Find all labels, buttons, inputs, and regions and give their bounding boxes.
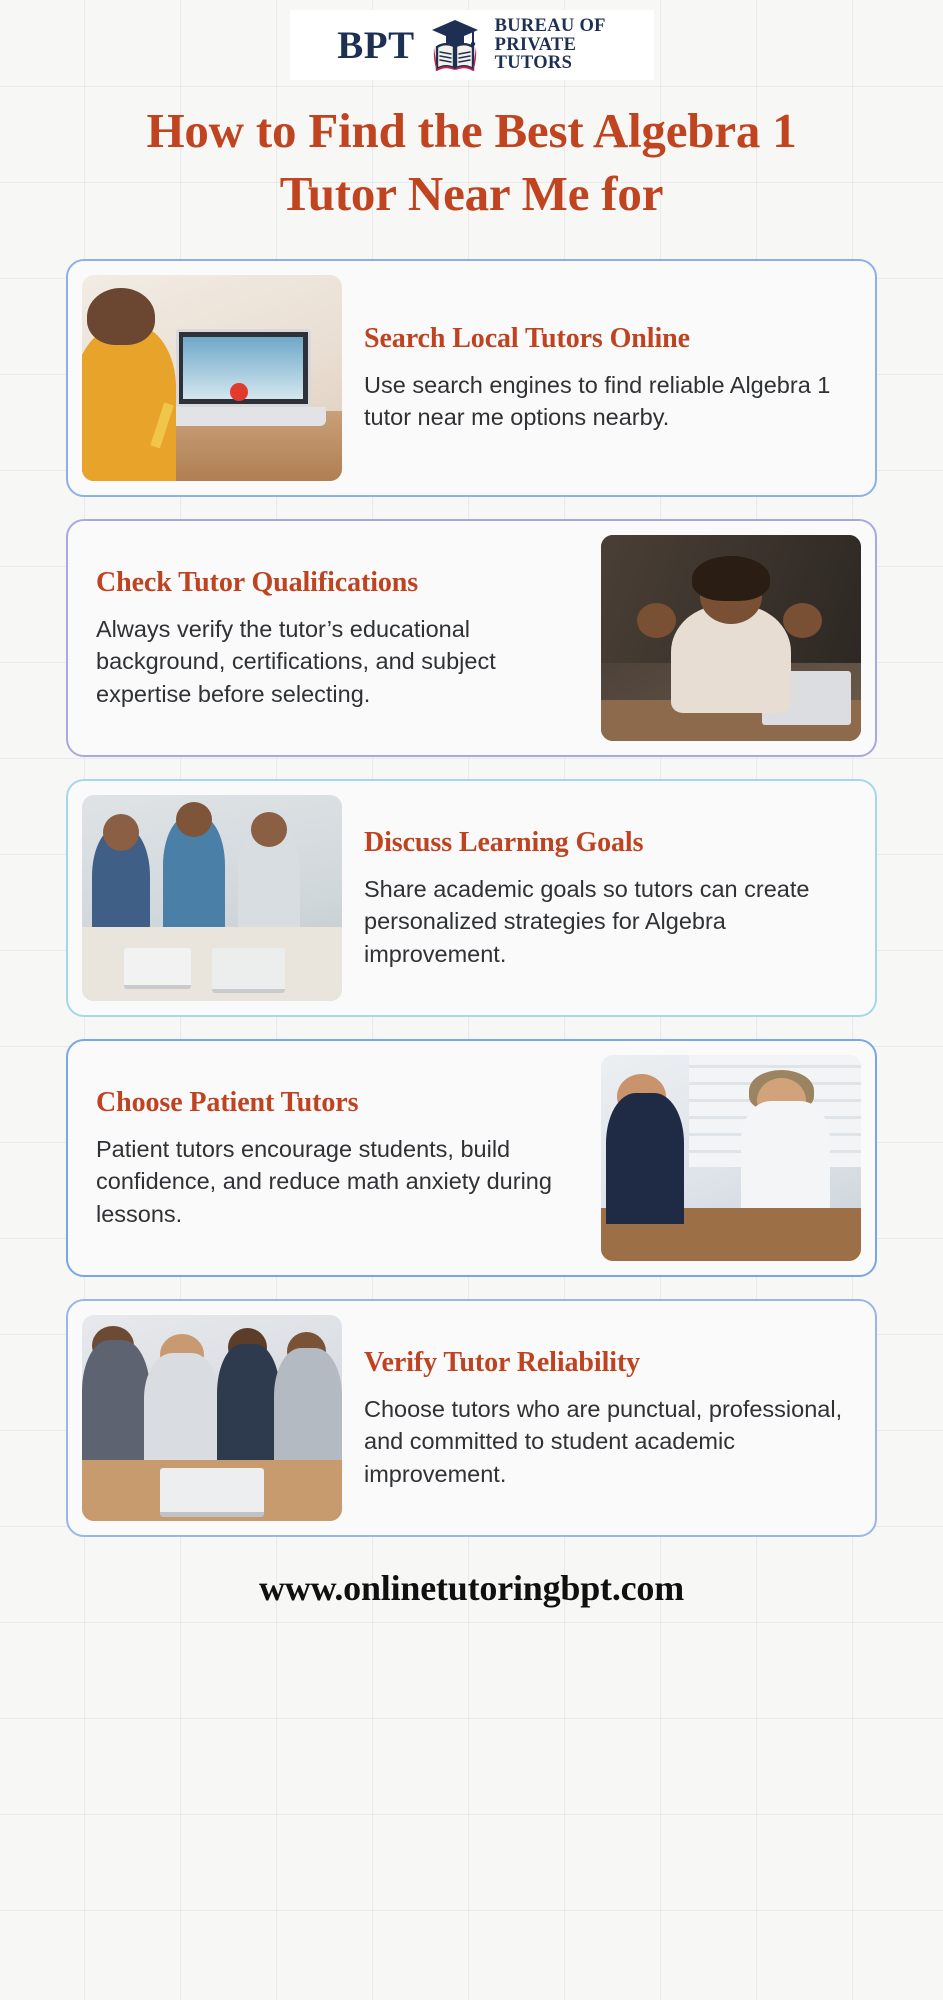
tip-card-1-heading: Search Local Tutors Online — [364, 323, 847, 355]
logo-line-1: BUREAU OF — [495, 17, 606, 36]
tip-card-1-body: Search Local Tutors Online Use search en… — [364, 323, 861, 434]
woman-meditating-at-laptop-photo — [601, 535, 861, 741]
tip-card-4-text: Patient tutors encourage students, build… — [96, 1133, 579, 1230]
tip-card-5-body: Verify Tutor Reliability Choose tutors w… — [364, 1347, 861, 1490]
tips-list: Search Local Tutors Online Use search en… — [66, 259, 877, 1537]
logo-line-2: PRIVATE — [495, 36, 606, 55]
tip-card-5-text: Choose tutors who are punctual, professi… — [364, 1393, 847, 1490]
tip-card-4-body: Choose Patient Tutors Patient tutors enc… — [82, 1087, 579, 1230]
tip-card-2-text: Always verify the tutor’s educational ba… — [96, 613, 579, 710]
tip-card-1-text: Use search engines to find reliable Alge… — [364, 369, 847, 434]
tip-card-3-text: Share academic goals so tutors can creat… — [364, 873, 847, 970]
girl-at-laptop-video-call-photo — [82, 275, 342, 481]
tip-card-1: Search Local Tutors Online Use search en… — [66, 259, 877, 497]
tip-card-2-body: Check Tutor Qualifications Always verify… — [82, 567, 579, 710]
graduation-cap-book-icon — [429, 17, 481, 73]
tip-card-5: Verify Tutor Reliability Choose tutors w… — [66, 1299, 877, 1537]
logo-wordmark: BUREAU OF PRIVATE TUTORS — [495, 17, 606, 74]
page-title: How to Find the Best Algebra 1 Tutor Nea… — [92, 100, 852, 225]
brand-logo: BPT BUREAU OF PRIVATE — [290, 10, 654, 80]
footer-website-url[interactable]: www.onlinetutoringbpt.com — [259, 1567, 684, 1609]
tip-card-2-heading: Check Tutor Qualifications — [96, 567, 579, 599]
tip-card-4: Choose Patient Tutors Patient tutors enc… — [66, 1039, 877, 1277]
tip-card-3: Discuss Learning Goals Share academic go… — [66, 779, 877, 1017]
students-working-on-laptops-photo — [82, 1315, 342, 1521]
tip-card-3-heading: Discuss Learning Goals — [364, 827, 847, 859]
tip-card-5-heading: Verify Tutor Reliability — [364, 1347, 847, 1379]
logo-abbreviation: BPT — [337, 26, 414, 65]
infographic-page: BPT BUREAU OF PRIVATE — [0, 0, 943, 2000]
tip-card-3-body: Discuss Learning Goals Share academic go… — [364, 827, 861, 970]
team-collaborating-at-table-photo — [82, 795, 342, 1001]
logo-line-3: TUTORS — [495, 54, 606, 73]
tip-card-4-heading: Choose Patient Tutors — [96, 1087, 579, 1119]
two-women-at-desk-photo — [601, 1055, 861, 1261]
tip-card-2: Check Tutor Qualifications Always verify… — [66, 519, 877, 757]
